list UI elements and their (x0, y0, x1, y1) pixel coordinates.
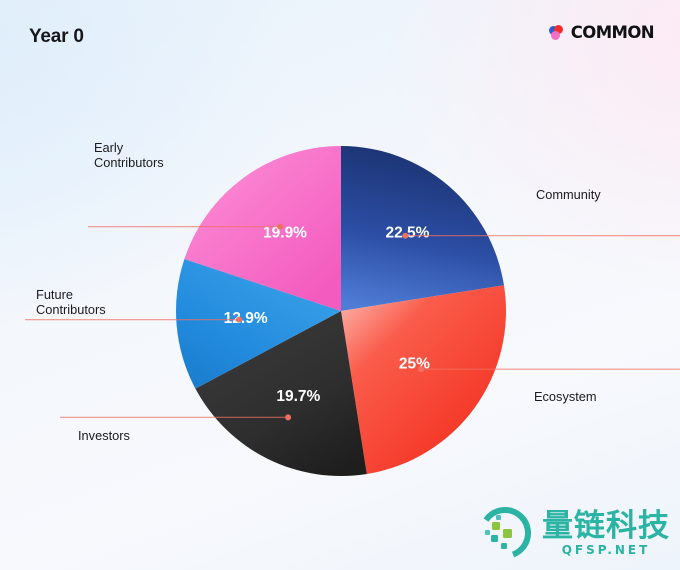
callout-label-ecosystem: Ecosystem (534, 389, 597, 404)
leader-dot (402, 233, 408, 239)
leader-dot (277, 224, 283, 230)
watermark-subtext: QFSP.NET (562, 543, 651, 557)
slice-value-label: 12.9% (224, 310, 268, 327)
watermark-text: 量链科技 (542, 509, 670, 543)
slide-canvas: Year 0 COMMON (0, 0, 680, 570)
callout-label-investors: Investors (78, 428, 130, 443)
slice-value-label: 25% (399, 355, 430, 372)
leader-dot (236, 317, 242, 323)
callout-label-early-contributors: Early Contributors (94, 140, 164, 170)
leader-dot (418, 366, 424, 372)
slice-value-label: 19.7% (276, 388, 320, 405)
callout-label-future-contributors: Future Contributors (36, 287, 106, 317)
watermark: 量链科技 QFSP.NET (476, 504, 670, 562)
leader-dot (285, 414, 291, 420)
watermark-logo-icon (476, 504, 534, 562)
slice-value-label: 22.5% (385, 224, 429, 241)
pie-slice-ecosystem (341, 285, 506, 474)
pie-chart: 22.5%25%19.7%12.9%19.9% (0, 0, 680, 570)
pie-chart-svg: 22.5%25%19.7%12.9%19.9% (0, 0, 680, 570)
callout-label-community: Community (536, 187, 601, 202)
